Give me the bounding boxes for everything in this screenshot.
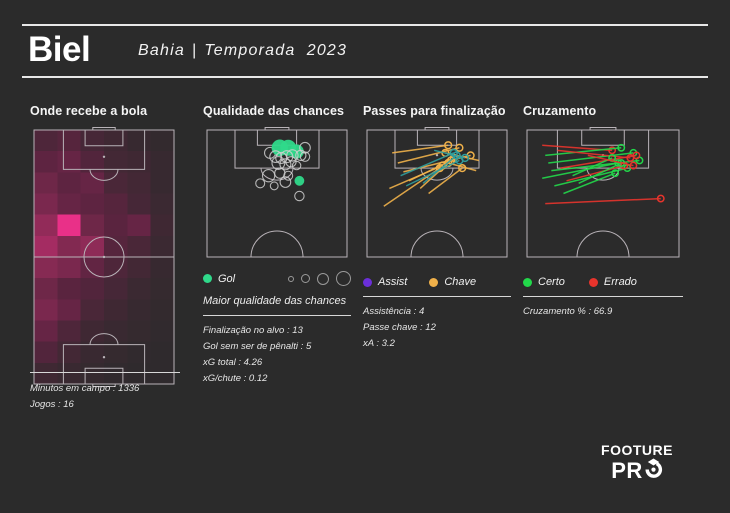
heatmap-stats: Minutos em campo : 1336 Jogos : 16 [30, 372, 180, 413]
season-year: 2023 [307, 42, 347, 59]
panel-passes-title: Passes para finalização [363, 104, 511, 118]
shots-pitch [203, 126, 351, 261]
legend-label-certo: Certo [538, 276, 565, 288]
dashboard-root: Biel Bahia|Temporada 2023 Onde recebe a … [0, 0, 730, 513]
crosses-stats: Cruzamento % : 66.9 [523, 304, 683, 320]
legend-item-certo: Certo [523, 276, 565, 288]
legend-item-assist: Assist [363, 276, 407, 288]
heatmap-pitch [30, 126, 178, 388]
cross-ok-dot-icon [523, 278, 532, 287]
panel-shots: Qualidade das chances Gol Maior qualidad… [203, 104, 351, 387]
logo-text-top: FOOTURE [598, 443, 676, 458]
logo-ball-icon [644, 458, 663, 483]
legend-label-gol: Gol [218, 273, 235, 285]
legend-label-assist: Assist [378, 276, 407, 288]
logo-text-bottom: PR [598, 458, 676, 483]
panel-crosses-title: Cruzamento [523, 104, 683, 118]
team-name: Bahia [138, 42, 185, 59]
stat-passe-chave: Passe chave : 12 [363, 320, 511, 336]
stat-jogos: Jogos : 16 [30, 397, 180, 413]
shots-divider [203, 315, 351, 316]
stat-xg-chute: xG/chute : 0.12 [203, 371, 351, 387]
heatmap-pitch-wrap [30, 126, 178, 388]
legend-item-gol: Gol [203, 273, 235, 285]
panel-crosses: Cruzamento Certo Errado Cruzamento % : 6… [523, 104, 683, 320]
shots-stats: Finalização no alvo : 13 Gol sem ser de … [203, 323, 351, 387]
crosses-pitch [523, 126, 683, 261]
panel-heatmap: Onde recebe a bola [30, 104, 178, 388]
stat-assistencia: Assistência : 4 [363, 304, 511, 320]
season-label: Temporada [204, 42, 295, 59]
xg-scale-ring [301, 274, 310, 283]
crosses-divider [523, 296, 683, 297]
shots-legend: Gol [203, 271, 351, 286]
stat-xg-total: xG total : 4.26 [203, 355, 351, 371]
assist-dot-icon [363, 278, 372, 287]
logo-pr-text: PR [611, 459, 643, 482]
stat-minutos: Minutos em campo : 1336 [30, 381, 180, 397]
xg-scale-ring [288, 276, 294, 282]
shots-legend-caption: Maior qualidade das chances [203, 295, 351, 307]
stat-cruzamento-pct: Cruzamento % : 66.9 [523, 304, 683, 320]
panel-heatmap-title: Onde recebe a bola [30, 104, 178, 118]
key-pass-dot-icon [429, 278, 438, 287]
header-rule-bottom [22, 76, 708, 78]
stat-finalizacao-alvo: Finalização no alvo : 13 [203, 323, 351, 339]
cross-fail-dot-icon [589, 278, 598, 287]
heatmap-stats-divider [30, 372, 180, 373]
passes-divider [363, 296, 511, 297]
crosses-legend: Certo Errado [523, 276, 683, 288]
stat-gol-sem-penalti: Gol sem ser de pênalti : 5 [203, 339, 351, 355]
legend-label-errado: Errado [604, 276, 637, 288]
panel-shots-title: Qualidade das chances [203, 104, 351, 118]
xg-scale-ring [317, 273, 329, 285]
xg-size-scale [288, 271, 351, 286]
stat-xa: xA : 3.2 [363, 336, 511, 352]
passes-stats: Assistência : 4 Passe chave : 12 xA : 3.… [363, 304, 511, 352]
page-title: Biel [28, 28, 90, 72]
header-separator: | [185, 42, 204, 59]
goal-dot-icon [203, 274, 212, 283]
legend-label-chave: Chave [444, 276, 476, 288]
header-subtitle: Bahia|Temporada 2023 [138, 40, 347, 62]
panel-passes: Passes para finalização Assist Chave Ass… [363, 104, 511, 352]
header-rule-top [22, 24, 708, 26]
xg-scale-ring [336, 271, 351, 286]
passes-pitch [363, 126, 511, 261]
passes-legend: Assist Chave [363, 276, 511, 288]
legend-item-errado: Errado [589, 276, 637, 288]
legend-item-chave: Chave [429, 276, 476, 288]
brand-logo: FOOTURE PR [598, 443, 676, 483]
